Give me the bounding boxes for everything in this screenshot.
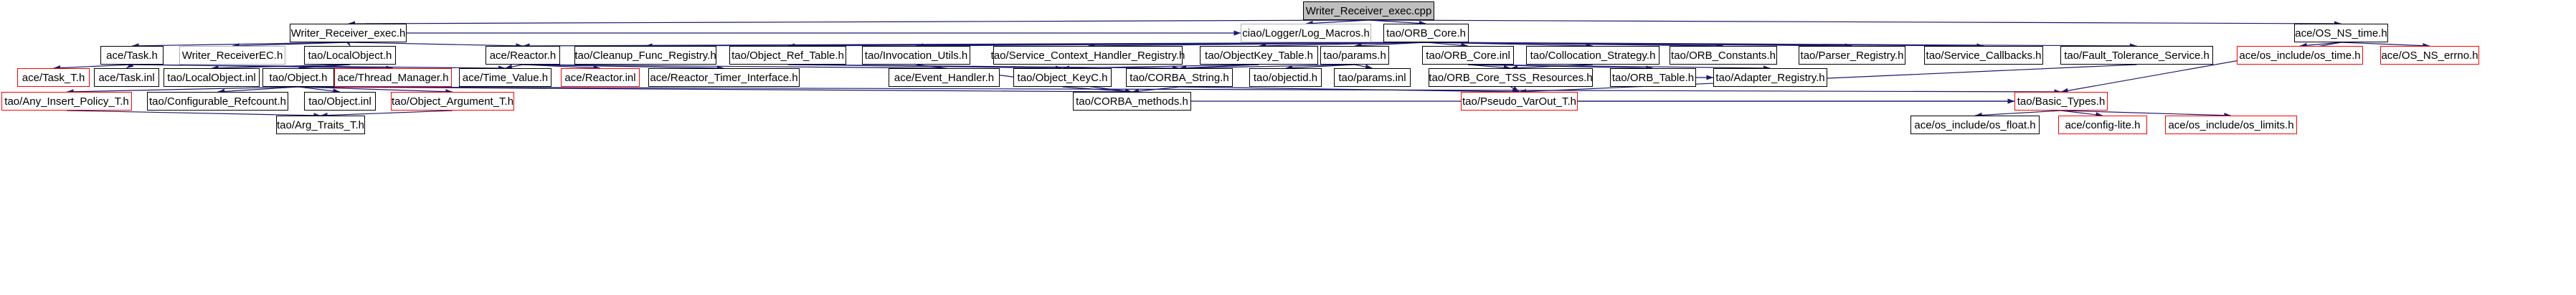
graph-node-n32[interactable]: tao/Object_KeyC.h [1013,68,1112,87]
graph-node-n17[interactable]: tao/ORB_Constants.h [1670,46,1777,65]
graph-node-n7[interactable]: tao/LocalObject.h [304,46,396,65]
graph-node-n41[interactable]: tao/Object.inl [304,92,376,111]
graph-node-label: tao/CORBA_methods.h [1076,96,1188,107]
graph-node-n2[interactable]: ciao/Logger/Log_Macros.h [1241,24,1371,42]
graph-node-label: ace/Time_Value.h [463,72,548,83]
graph-node-n30[interactable]: ace/Reactor_Timer_Interface.h [648,68,800,87]
graph-node-label: tao/ORB_Core.inl [1426,50,1510,61]
graph-edge [298,87,340,92]
graph-node-label: Writer_Receiver_exec.h [291,28,406,39]
graph-edge [67,111,321,116]
graph-node-n5[interactable]: ace/Task.h [100,46,164,65]
graph-node-n45[interactable]: tao/Basic_Types.h [2014,92,2108,111]
graph-node-n22[interactable]: ace/OS_NS_errno.h [2380,46,2479,65]
graph-node-label: ace/Reactor_Timer_Interface.h [650,72,797,83]
graph-node-n15[interactable]: tao/ORB_Core.inl [1422,46,1514,65]
graph-node-label: tao/Pseudo_VarOut_T.h [1462,96,1576,107]
graph-node-n43[interactable]: tao/CORBA_methods.h [1073,92,1191,111]
graph-node-n0[interactable]: Writer_Receiver_exec.cpp [1303,1,1434,20]
graph-node-label: tao/Object_KeyC.h [1018,72,1108,83]
graph-node-label: Writer_Receiver_exec.cpp [1306,6,1432,17]
graph-node-n18[interactable]: tao/Parser_Registry.h [1799,46,1905,65]
graph-node-label: ace/config-lite.h [2065,120,2140,131]
graph-edge [1975,111,2061,116]
graph-node-n37[interactable]: tao/ORB_Table.h [1610,68,1696,87]
graph-edge [1369,20,2341,24]
graph-node-n6[interactable]: Writer_ReceiverEC.h [179,46,285,65]
graph-edge [2061,111,2103,116]
graph-node-label: tao/Object.h [270,72,328,83]
graph-node-label: tao/ORB_Core_TSS_Resources.h [1429,72,1592,83]
graph-edge [1511,87,1520,92]
graph-node-label: tao/Invocation_Utils.h [865,50,967,61]
graph-node-n27[interactable]: ace/Thread_Manager.h [334,68,452,87]
graph-node-label: tao/Fault_Tolerance_Service.h [2064,50,2210,61]
graph-node-label: tao/ORB_Constants.h [1671,50,1776,61]
graph-node-n13[interactable]: tao/ObjectKey_Table.h [1200,46,1318,65]
graph-node-n4[interactable]: ace/OS_NS_time.h [2294,24,2388,42]
graph-node-label: tao/Basic_Types.h [2017,96,2106,107]
graph-node-n28[interactable]: ace/Time_Value.h [459,68,551,87]
graph-node-label: ace/os_include/os_limits.h [2168,120,2293,131]
graph-edge [298,87,1132,92]
graph-node-n19[interactable]: tao/Service_Callbacks.h [1924,46,2043,65]
graph-node-label: tao/Collocation_Strategy.h [1530,50,1656,61]
graph-edge [298,87,2061,92]
graph-node-label: ace/Task.inl [98,72,154,83]
graph-node-n10[interactable]: tao/Object_Ref_Table.h [729,46,846,65]
graph-node-n47[interactable]: ace/os_include/os_float.h [1910,116,2040,134]
graph-node-n12[interactable]: tao/Service_Context_Handler_Registry.h [993,46,1183,65]
graph-node-label: ciao/Logger/Log_Macros.h [1242,28,1370,39]
graph-node-label: ace/Thread_Manager.h [337,72,448,83]
graph-node-label: tao/ORB_Core.h [1386,28,1466,39]
graph-node-n9[interactable]: tao/Cleanup_Func_Registry.h [574,46,716,65]
graph-edge [1063,87,1132,92]
graph-node-label: tao/Cleanup_Func_Registry.h [574,50,716,61]
graph-node-label: tao/LocalObject.h [308,50,392,61]
graph-node-label: tao/Object_Argument_T.h [392,96,513,107]
graph-node-n38[interactable]: tao/Adapter_Registry.h [1713,68,1827,87]
graph-node-label: ace/os_include/os_time.h [2239,50,2360,61]
graph-node-label: tao/Parser_Registry.h [1801,50,1904,61]
graph-node-label: ace/os_include/os_float.h [1914,120,2035,131]
graph-node-n36[interactable]: tao/ORB_Core_TSS_Resources.h [1429,68,1593,87]
graph-edge [321,111,453,116]
graph-node-label: ace/Reactor.inl [564,72,635,83]
graph-node-label: tao/params.inl [1338,72,1406,83]
graph-node-label: ace/Task_T.h [22,72,85,83]
graph-node-label: tao/LocalObject.inl [167,72,255,83]
graph-node-label: tao/params.h [1323,50,1386,61]
graph-node-n11[interactable]: tao/Invocation_Utils.h [862,46,970,65]
graph-node-n3[interactable]: tao/ORB_Core.h [1383,24,1469,42]
graph-node-n25[interactable]: tao/LocalObject.inl [164,68,260,87]
graph-node-n46[interactable]: tao/Arg_Traits_T.h [276,116,365,134]
graph-node-n23[interactable]: ace/Task_T.h [17,68,90,87]
include-dependency-graph: Writer_Receiver_exec.cppWriter_Receiver_… [0,0,2576,295]
graph-node-n42[interactable]: tao/Object_Argument_T.h [391,92,514,111]
graph-node-n40[interactable]: tao/Configurable_Refcount.h [147,92,288,111]
graph-node-n21[interactable]: ace/os_include/os_time.h [2237,46,2363,65]
graph-edges [0,0,2576,295]
graph-node-label: tao/ObjectKey_Table.h [1205,50,1313,61]
graph-node-n16[interactable]: tao/Collocation_Strategy.h [1526,46,1659,65]
graph-node-label: ace/Event_Handler.h [894,72,994,83]
graph-edge [67,87,298,92]
graph-node-label: ace/Reactor.h [490,50,557,61]
graph-node-label: tao/Object_Ref_Table.h [731,50,844,61]
graph-node-n49[interactable]: ace/os_include/os_limits.h [2165,116,2297,134]
graph-node-n8[interactable]: ace/Reactor.h [486,46,560,65]
graph-node-label: tao/Any_Insert_Policy_T.h [4,96,128,107]
graph-node-n24[interactable]: ace/Task.inl [94,68,159,87]
graph-node-label: tao/Service_Callbacks.h [1926,50,2042,61]
graph-edge [298,87,453,92]
graph-edge [1180,87,1520,92]
graph-node-n26[interactable]: tao/Object.h [262,68,334,87]
graph-node-n35[interactable]: tao/params.inl [1334,68,1411,87]
graph-node-n34[interactable]: tao/objectid.h [1249,68,1322,87]
graph-node-label: tao/CORBA_String.h [1130,72,1228,83]
graph-edge [218,87,299,92]
graph-node-label: tao/objectid.h [1254,72,1317,83]
graph-node-n33[interactable]: tao/CORBA_String.h [1126,68,1233,87]
graph-node-label: tao/Service_Context_Handler_Registry.h [991,50,1185,61]
graph-node-n29[interactable]: ace/Reactor.inl [561,68,640,87]
graph-node-label: tao/Object.inl [308,96,371,107]
graph-node-label: ace/OS_NS_time.h [2295,28,2387,39]
graph-node-n31[interactable]: ace/Event_Handler.h [889,68,1000,87]
graph-node-n39[interactable]: tao/Any_Insert_Policy_T.h [1,92,132,111]
graph-edge [2061,111,2231,116]
graph-node-label: Writer_ReceiverEC.h [182,50,283,61]
graph-node-label: tao/Adapter_Registry.h [1715,72,1824,83]
graph-node-n48[interactable]: ace/config-lite.h [2058,116,2147,134]
graph-node-label: tao/Arg_Traits_T.h [277,120,364,131]
graph-node-label: tao/Configurable_Refcount.h [149,96,286,107]
graph-node-label: ace/OS_NS_errno.h [2381,50,2478,61]
graph-node-label: ace/Task.h [106,50,158,61]
graph-edge [1132,87,1180,92]
graph-edge [349,20,1369,24]
graph-node-n14[interactable]: tao/params.h [1320,46,1389,65]
graph-node-n1[interactable]: Writer_Receiver_exec.h [290,24,407,42]
graph-node-n44[interactable]: tao/Pseudo_VarOut_T.h [1461,92,1578,111]
graph-node-n20[interactable]: tao/Fault_Tolerance_Service.h [2060,46,2213,65]
graph-node-label: tao/ORB_Table.h [1612,72,1694,83]
